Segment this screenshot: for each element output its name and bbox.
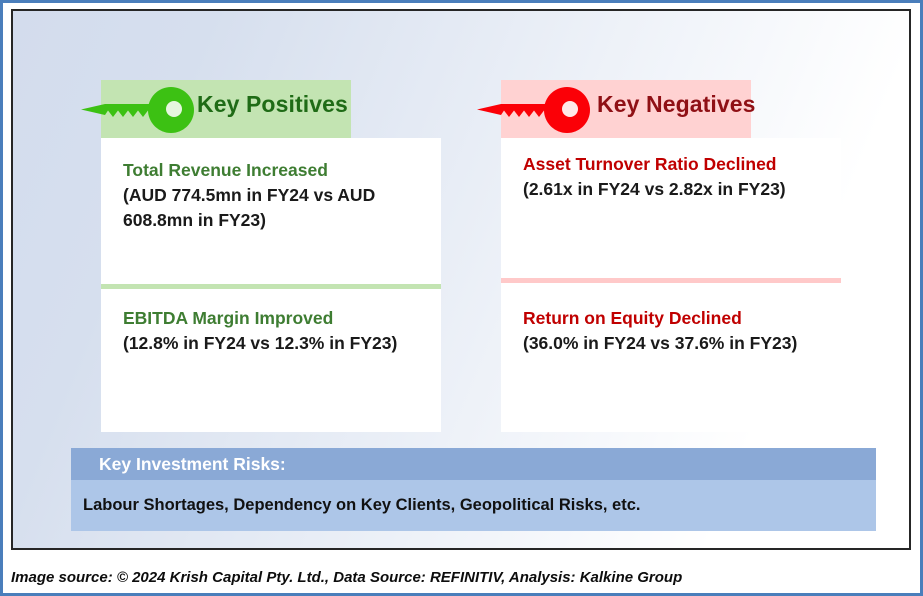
key-icon-red xyxy=(471,87,593,133)
key-positives-card: Total Revenue Increased (AUD 774.5mn in … xyxy=(101,138,441,432)
negatives-item-2-detail: (36.0% in FY24 vs 37.6% in FY23) xyxy=(523,331,823,356)
negatives-item-2: Return on Equity Declined (36.0% in FY24… xyxy=(523,306,823,356)
positives-item-2-detail: (12.8% in FY24 vs 12.3% in FY23) xyxy=(123,331,423,356)
negatives-item-2-title: Return on Equity Declined xyxy=(523,306,823,330)
positives-item-1-title: Total Revenue Increased xyxy=(123,158,423,182)
slide-canvas: Key Positives Key Negatives Total Revenu… xyxy=(11,9,911,550)
key-negatives-title: Key Negatives xyxy=(597,91,756,118)
positives-divider xyxy=(101,284,441,289)
negatives-item-1-title: Asset Turnover Ratio Declined xyxy=(523,152,823,176)
positives-item-2-title: EBITDA Margin Improved xyxy=(123,306,423,330)
key-positives-title: Key Positives xyxy=(197,91,348,118)
slide-container: Key Positives Key Negatives Total Revenu… xyxy=(0,0,923,596)
negatives-divider xyxy=(501,278,841,283)
positives-item-1-detail: (AUD 774.5mn in FY24 vs AUD 608.8mn in F… xyxy=(123,183,423,232)
negatives-item-1: Asset Turnover Ratio Declined (2.61x in … xyxy=(523,152,823,202)
positives-item-1: Total Revenue Increased (AUD 774.5mn in … xyxy=(123,158,423,232)
key-investment-risks-heading: Key Investment Risks: xyxy=(71,448,876,480)
footer-source-text: Image source: © 2024 Krish Capital Pty. … xyxy=(3,569,682,586)
key-investment-risks-body: Labour Shortages, Dependency on Key Clie… xyxy=(71,480,876,531)
key-investment-risks-banner: Key Investment Risks: Labour Shortages, … xyxy=(71,448,876,531)
key-icon-green xyxy=(75,87,197,133)
positives-item-2: EBITDA Margin Improved (12.8% in FY24 vs… xyxy=(123,306,423,356)
key-negatives-card: Asset Turnover Ratio Declined (2.61x in … xyxy=(501,138,841,432)
footer: Image source: © 2024 Krish Capital Pty. … xyxy=(3,559,923,596)
negatives-item-1-detail: (2.61x in FY24 vs 2.82x in FY23) xyxy=(523,177,823,202)
